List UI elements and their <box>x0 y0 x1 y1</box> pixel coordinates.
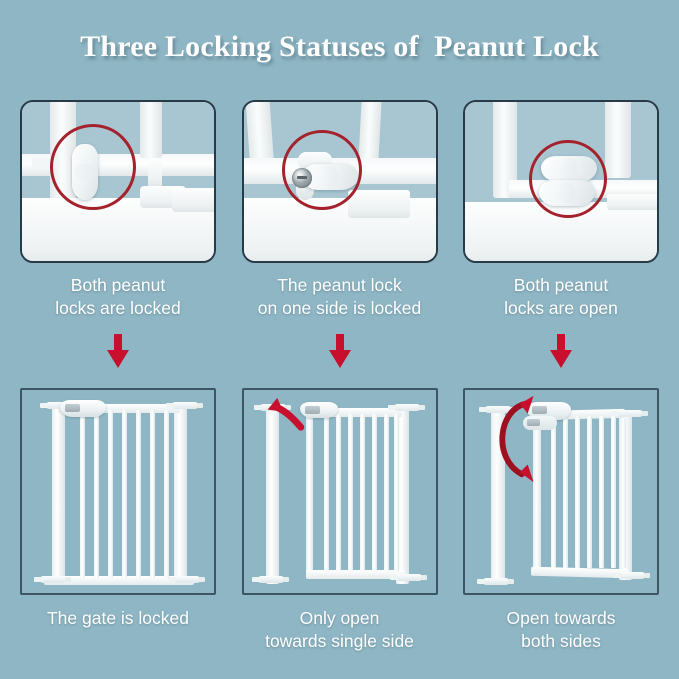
gate-state-caption-row: The gate is locked Only open towards sin… <box>20 607 659 653</box>
lock-status-col-1 <box>20 100 216 263</box>
lock-caption-both-locked: Both peanut locks are locked <box>20 274 216 320</box>
highlight-circle-icon <box>529 140 607 218</box>
gate-caption-both-sides: Open towards both sides <box>463 607 659 653</box>
gate-caption-locked: The gate is locked <box>20 607 216 653</box>
highlight-circle-icon <box>50 124 136 210</box>
lock-photo-both-locked <box>20 100 216 263</box>
wall-mount-top-right <box>172 402 198 409</box>
swing-arrow-double-icon <box>465 390 657 593</box>
lock-status-col-3 <box>463 100 659 263</box>
lock-caption-both-open: Both peanut locks are open <box>463 274 659 320</box>
lock-photo-one-side-locked <box>242 100 438 263</box>
wall-mount-bottom-right <box>174 576 200 583</box>
gate-bar <box>94 410 99 578</box>
arrow-down-icon <box>107 334 129 368</box>
arrow-head <box>107 350 129 368</box>
caption-cell-3: Both peanut locks are open <box>463 274 659 320</box>
highlight-circle-icon <box>282 130 362 210</box>
gate-photo-both-sides <box>463 388 659 595</box>
gate-post-left <box>52 404 65 584</box>
lock-photo-both-open <box>463 100 659 263</box>
gate-state-col-2 <box>242 388 438 595</box>
gate-state-col-3 <box>463 388 659 595</box>
gate-photo-locked <box>20 388 216 595</box>
arrow-cell-3 <box>463 334 659 368</box>
page-title: Three Locking Statuses of Peanut Lock <box>0 30 679 64</box>
mount-block-2 <box>172 188 216 212</box>
mount-block <box>348 190 410 218</box>
arrow-head <box>329 350 351 368</box>
gate-bar <box>80 410 85 578</box>
lock-status-caption-row: Both peanut locks are locked The peanut … <box>20 274 659 320</box>
caption-cell-6: Open towards both sides <box>463 607 659 653</box>
caption-cell-5: Only open towards single side <box>242 607 438 653</box>
gate-caption-single-side: Only open towards single side <box>242 607 438 653</box>
gate-bar <box>108 410 113 578</box>
gate-handle <box>60 400 106 417</box>
gate-post-right <box>140 100 162 158</box>
gate-state-col-1 <box>20 388 216 595</box>
arrow-head <box>550 350 572 368</box>
gate-bar <box>164 410 169 578</box>
arrow-down-icon <box>329 334 351 368</box>
arrow-down-icon <box>550 334 572 368</box>
gate-post-right <box>358 100 382 166</box>
caption-cell-1: Both peanut locks are locked <box>20 274 216 320</box>
mount-peg <box>148 158 162 188</box>
lock-status-photo-row <box>20 100 659 263</box>
arrow-cell-1 <box>20 334 216 368</box>
lock-caption-one-side-locked: The peanut lock on one side is locked <box>242 274 438 320</box>
gate-bar <box>122 410 127 578</box>
gate-post-right <box>174 404 187 584</box>
handle-button <box>65 404 80 412</box>
arrow-row <box>20 334 659 368</box>
caption-cell-4: The gate is locked <box>20 607 216 653</box>
gate-bar <box>136 410 141 578</box>
caption-cell-2: The peanut lock on one side is locked <box>242 274 438 320</box>
gate-state-photo-row <box>20 388 659 595</box>
gate-post-right <box>605 100 631 178</box>
mount-block <box>607 194 659 210</box>
arrow-cell-2 <box>242 334 438 368</box>
gate-photo-single-side <box>242 388 438 595</box>
wall-mount-bottom-left <box>40 576 66 583</box>
swing-arrow-single-icon <box>244 390 436 593</box>
gate-bar <box>150 410 155 578</box>
lock-status-col-2 <box>242 100 438 263</box>
